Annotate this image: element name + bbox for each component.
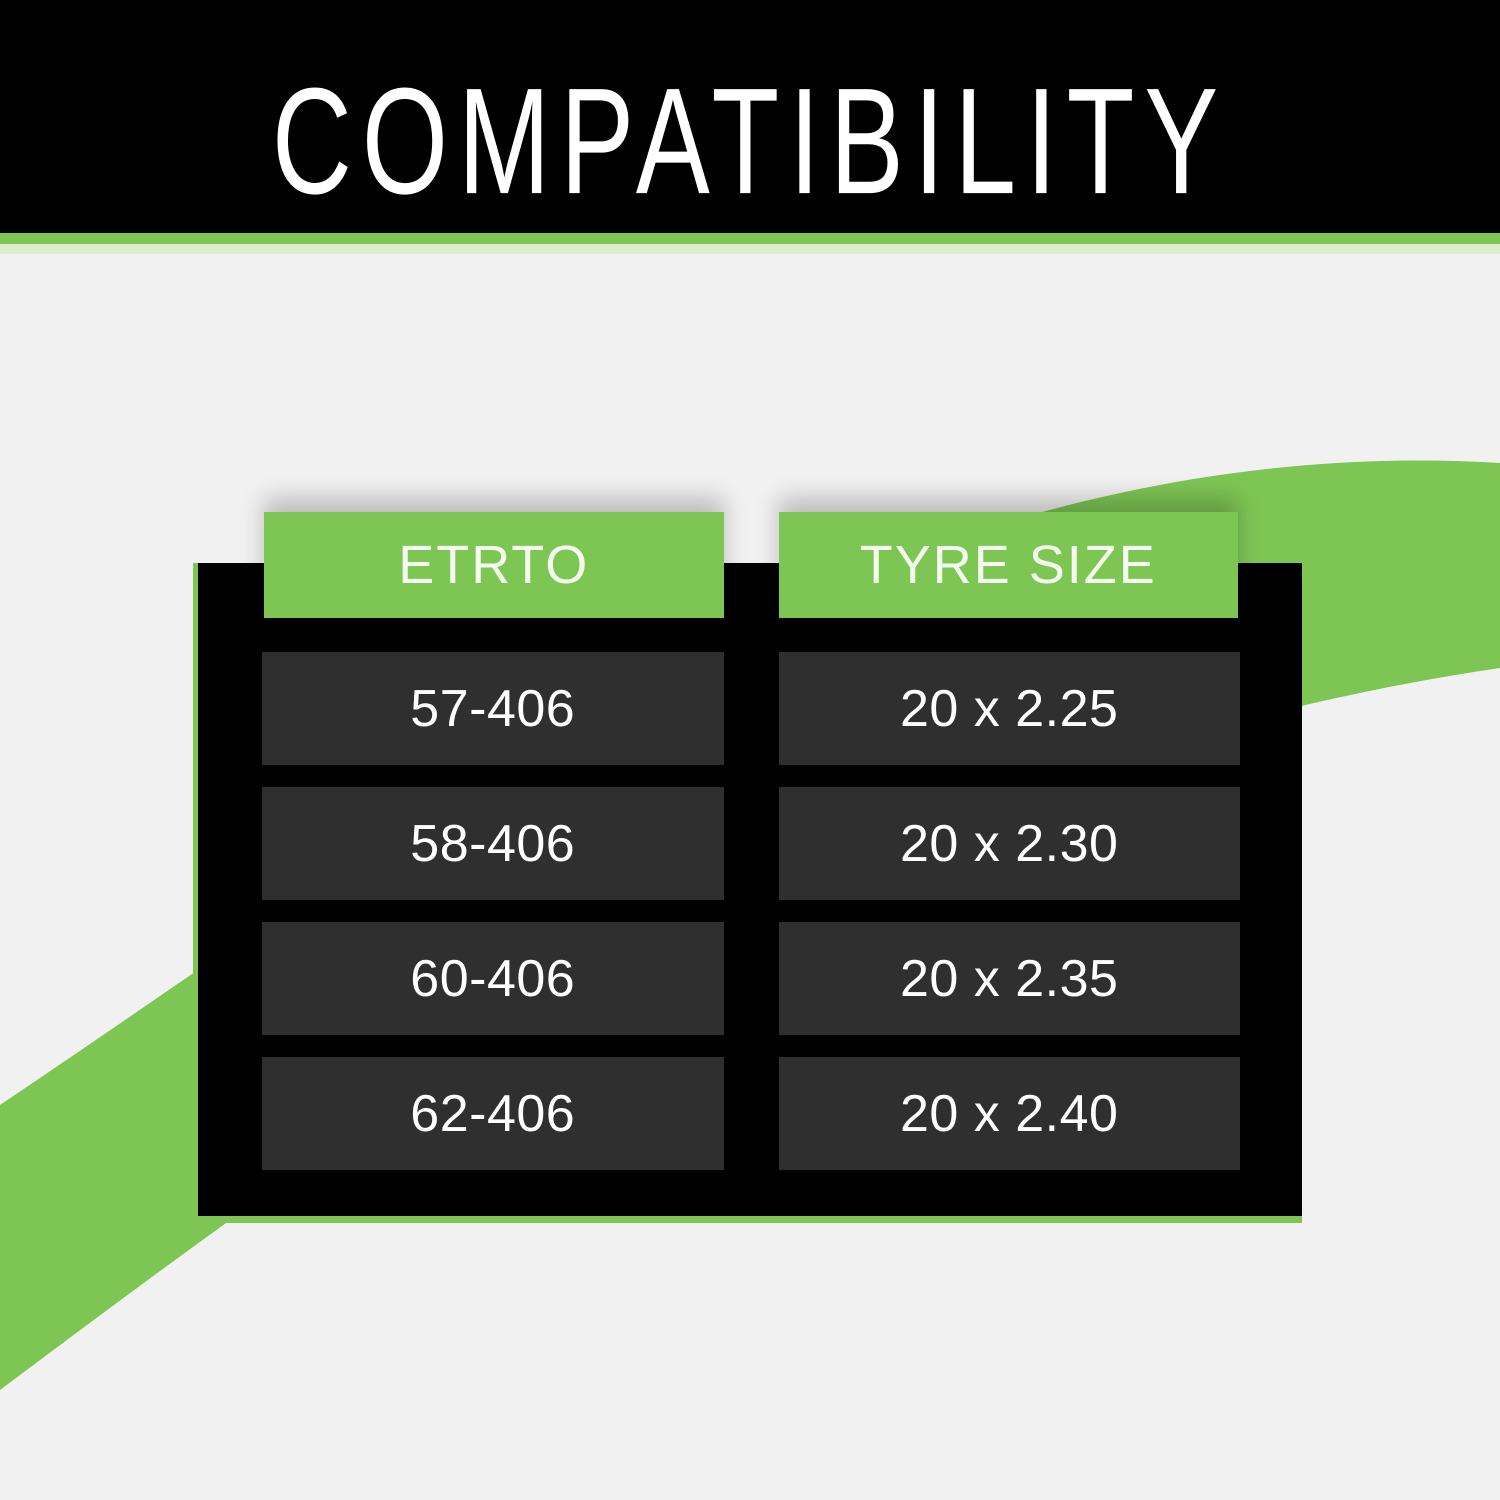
cell-etrto: 62-406 xyxy=(262,1057,724,1170)
cell-value: 20 x 2.25 xyxy=(900,683,1118,735)
column-header-label: ETRTO xyxy=(398,538,589,592)
cell-value: 60-406 xyxy=(410,953,575,1005)
compatibility-infographic: COMPATIBILITY ETRTO TYRE SIZE 57-406 20 … xyxy=(0,0,1500,1500)
cell-value: 62-406 xyxy=(410,1088,575,1140)
cell-tyre-size: 20 x 2.35 xyxy=(779,922,1241,1035)
table-row: 62-406 20 x 2.40 xyxy=(262,1057,1240,1170)
cell-value: 57-406 xyxy=(410,683,575,735)
table-header-row: ETRTO TYRE SIZE xyxy=(264,512,1238,618)
cell-etrto: 60-406 xyxy=(262,922,724,1035)
table-body: 57-406 20 x 2.25 58-406 20 x 2.30 60-406… xyxy=(262,652,1240,1170)
column-header-etrto: ETRTO xyxy=(264,512,724,618)
column-header-tyre-size: TYRE SIZE xyxy=(779,512,1239,618)
table-row: 58-406 20 x 2.30 xyxy=(262,787,1240,900)
cell-value: 58-406 xyxy=(410,818,575,870)
table-row: 60-406 20 x 2.35 xyxy=(262,922,1240,1035)
title-rule-glow xyxy=(0,244,1500,254)
cell-value: 20 x 2.30 xyxy=(900,818,1118,870)
title-accent-rule xyxy=(0,233,1500,244)
table-row: 57-406 20 x 2.25 xyxy=(262,652,1240,765)
title-band: COMPATIBILITY xyxy=(0,0,1500,233)
cell-tyre-size: 20 x 2.25 xyxy=(779,652,1241,765)
cell-tyre-size: 20 x 2.40 xyxy=(779,1057,1241,1170)
page-title: COMPATIBILITY xyxy=(8,50,1493,232)
cell-value: 20 x 2.35 xyxy=(900,953,1118,1005)
cell-etrto: 58-406 xyxy=(262,787,724,900)
cell-etrto: 57-406 xyxy=(262,652,724,765)
cell-value: 20 x 2.40 xyxy=(900,1088,1118,1140)
cell-tyre-size: 20 x 2.30 xyxy=(779,787,1241,900)
column-header-label: TYRE SIZE xyxy=(860,538,1157,592)
